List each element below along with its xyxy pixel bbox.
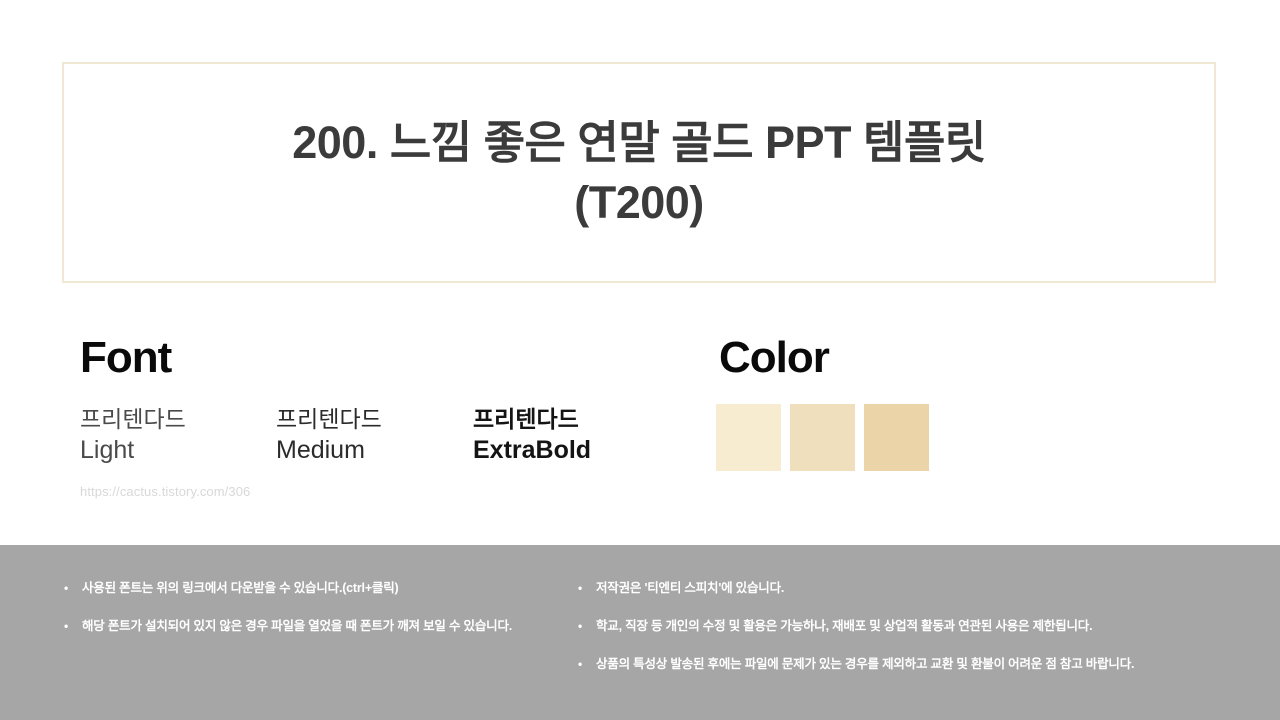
color-swatch-gold-light xyxy=(790,404,855,471)
notes-bar: • 사용된 폰트는 위의 링크에서 다운받을 수 있습니다.(ctrl+클릭) … xyxy=(0,545,1280,720)
title-frame: 200. 느낌 좋은 연말 골드 PPT 템플릿 (T200) xyxy=(62,62,1216,283)
note-text: 사용된 폰트는 위의 링크에서 다운받을 수 있습니다.(ctrl+클릭) xyxy=(82,580,570,597)
font-specimen-medium: 프리텐다드 Medium xyxy=(276,404,382,467)
font-specimen-weight: ExtraBold xyxy=(473,434,591,467)
note-text: 상품의 특성상 발송된 후에는 파일에 문제가 있는 경우를 제외하고 교환 및… xyxy=(596,656,1280,673)
note-text: 저작권은 '티엔티 스피치'에 있습니다. xyxy=(596,580,1280,597)
color-swatch-gold-pale xyxy=(716,404,781,471)
bullet-icon: • xyxy=(578,580,596,596)
font-specimen-light: 프리텐다드 Light xyxy=(80,404,186,467)
note-text: 학교, 직장 등 개인의 수정 및 활용은 가능하나, 재배포 및 상업적 활동… xyxy=(596,618,1280,635)
notes-column-right: • 저작권은 '티엔티 스피치'에 있습니다. • 학교, 직장 등 개인의 수… xyxy=(570,545,1280,720)
font-specimen-weight: Light xyxy=(80,434,186,467)
bullet-icon: • xyxy=(64,618,82,634)
note-item: • 해당 폰트가 설치되어 있지 않은 경우 파일을 열었을 때 폰트가 깨져 … xyxy=(64,618,570,635)
font-specimen-korean: 프리텐다드 xyxy=(473,404,591,434)
font-specimen-extrabold: 프리텐다드 ExtraBold xyxy=(473,404,591,467)
bullet-icon: • xyxy=(64,580,82,596)
note-item: • 상품의 특성상 발송된 후에는 파일에 문제가 있는 경우를 제외하고 교환… xyxy=(578,656,1280,673)
font-specimen-korean: 프리텐다드 xyxy=(80,404,186,434)
bullet-icon: • xyxy=(578,656,596,672)
note-item: • 학교, 직장 등 개인의 수정 및 활용은 가능하나, 재배포 및 상업적 … xyxy=(578,618,1280,635)
bullet-icon: • xyxy=(578,618,596,634)
note-text: 해당 폰트가 설치되어 있지 않은 경우 파일을 열었을 때 폰트가 깨져 보일… xyxy=(82,618,570,635)
color-swatch-row xyxy=(716,404,929,471)
slide-canvas: 200. 느낌 좋은 연말 골드 PPT 템플릿 (T200) Font 프리텐… xyxy=(0,0,1280,720)
note-item: • 저작권은 '티엔티 스피치'에 있습니다. xyxy=(578,580,1280,597)
font-specimen-weight: Medium xyxy=(276,434,382,467)
font-section-heading: Font xyxy=(80,336,171,380)
font-source-link[interactable]: https://cactus.tistory.com/306 xyxy=(80,484,250,499)
color-section-heading: Color xyxy=(719,336,829,380)
font-specimen-korean: 프리텐다드 xyxy=(276,404,382,434)
note-item: • 사용된 폰트는 위의 링크에서 다운받을 수 있습니다.(ctrl+클릭) xyxy=(64,580,570,597)
color-swatch-gold-medium xyxy=(864,404,929,471)
notes-column-left: • 사용된 폰트는 위의 링크에서 다운받을 수 있습니다.(ctrl+클릭) … xyxy=(0,545,570,720)
page-title: 200. 느낌 좋은 연말 골드 PPT 템플릿 (T200) xyxy=(272,113,1006,232)
